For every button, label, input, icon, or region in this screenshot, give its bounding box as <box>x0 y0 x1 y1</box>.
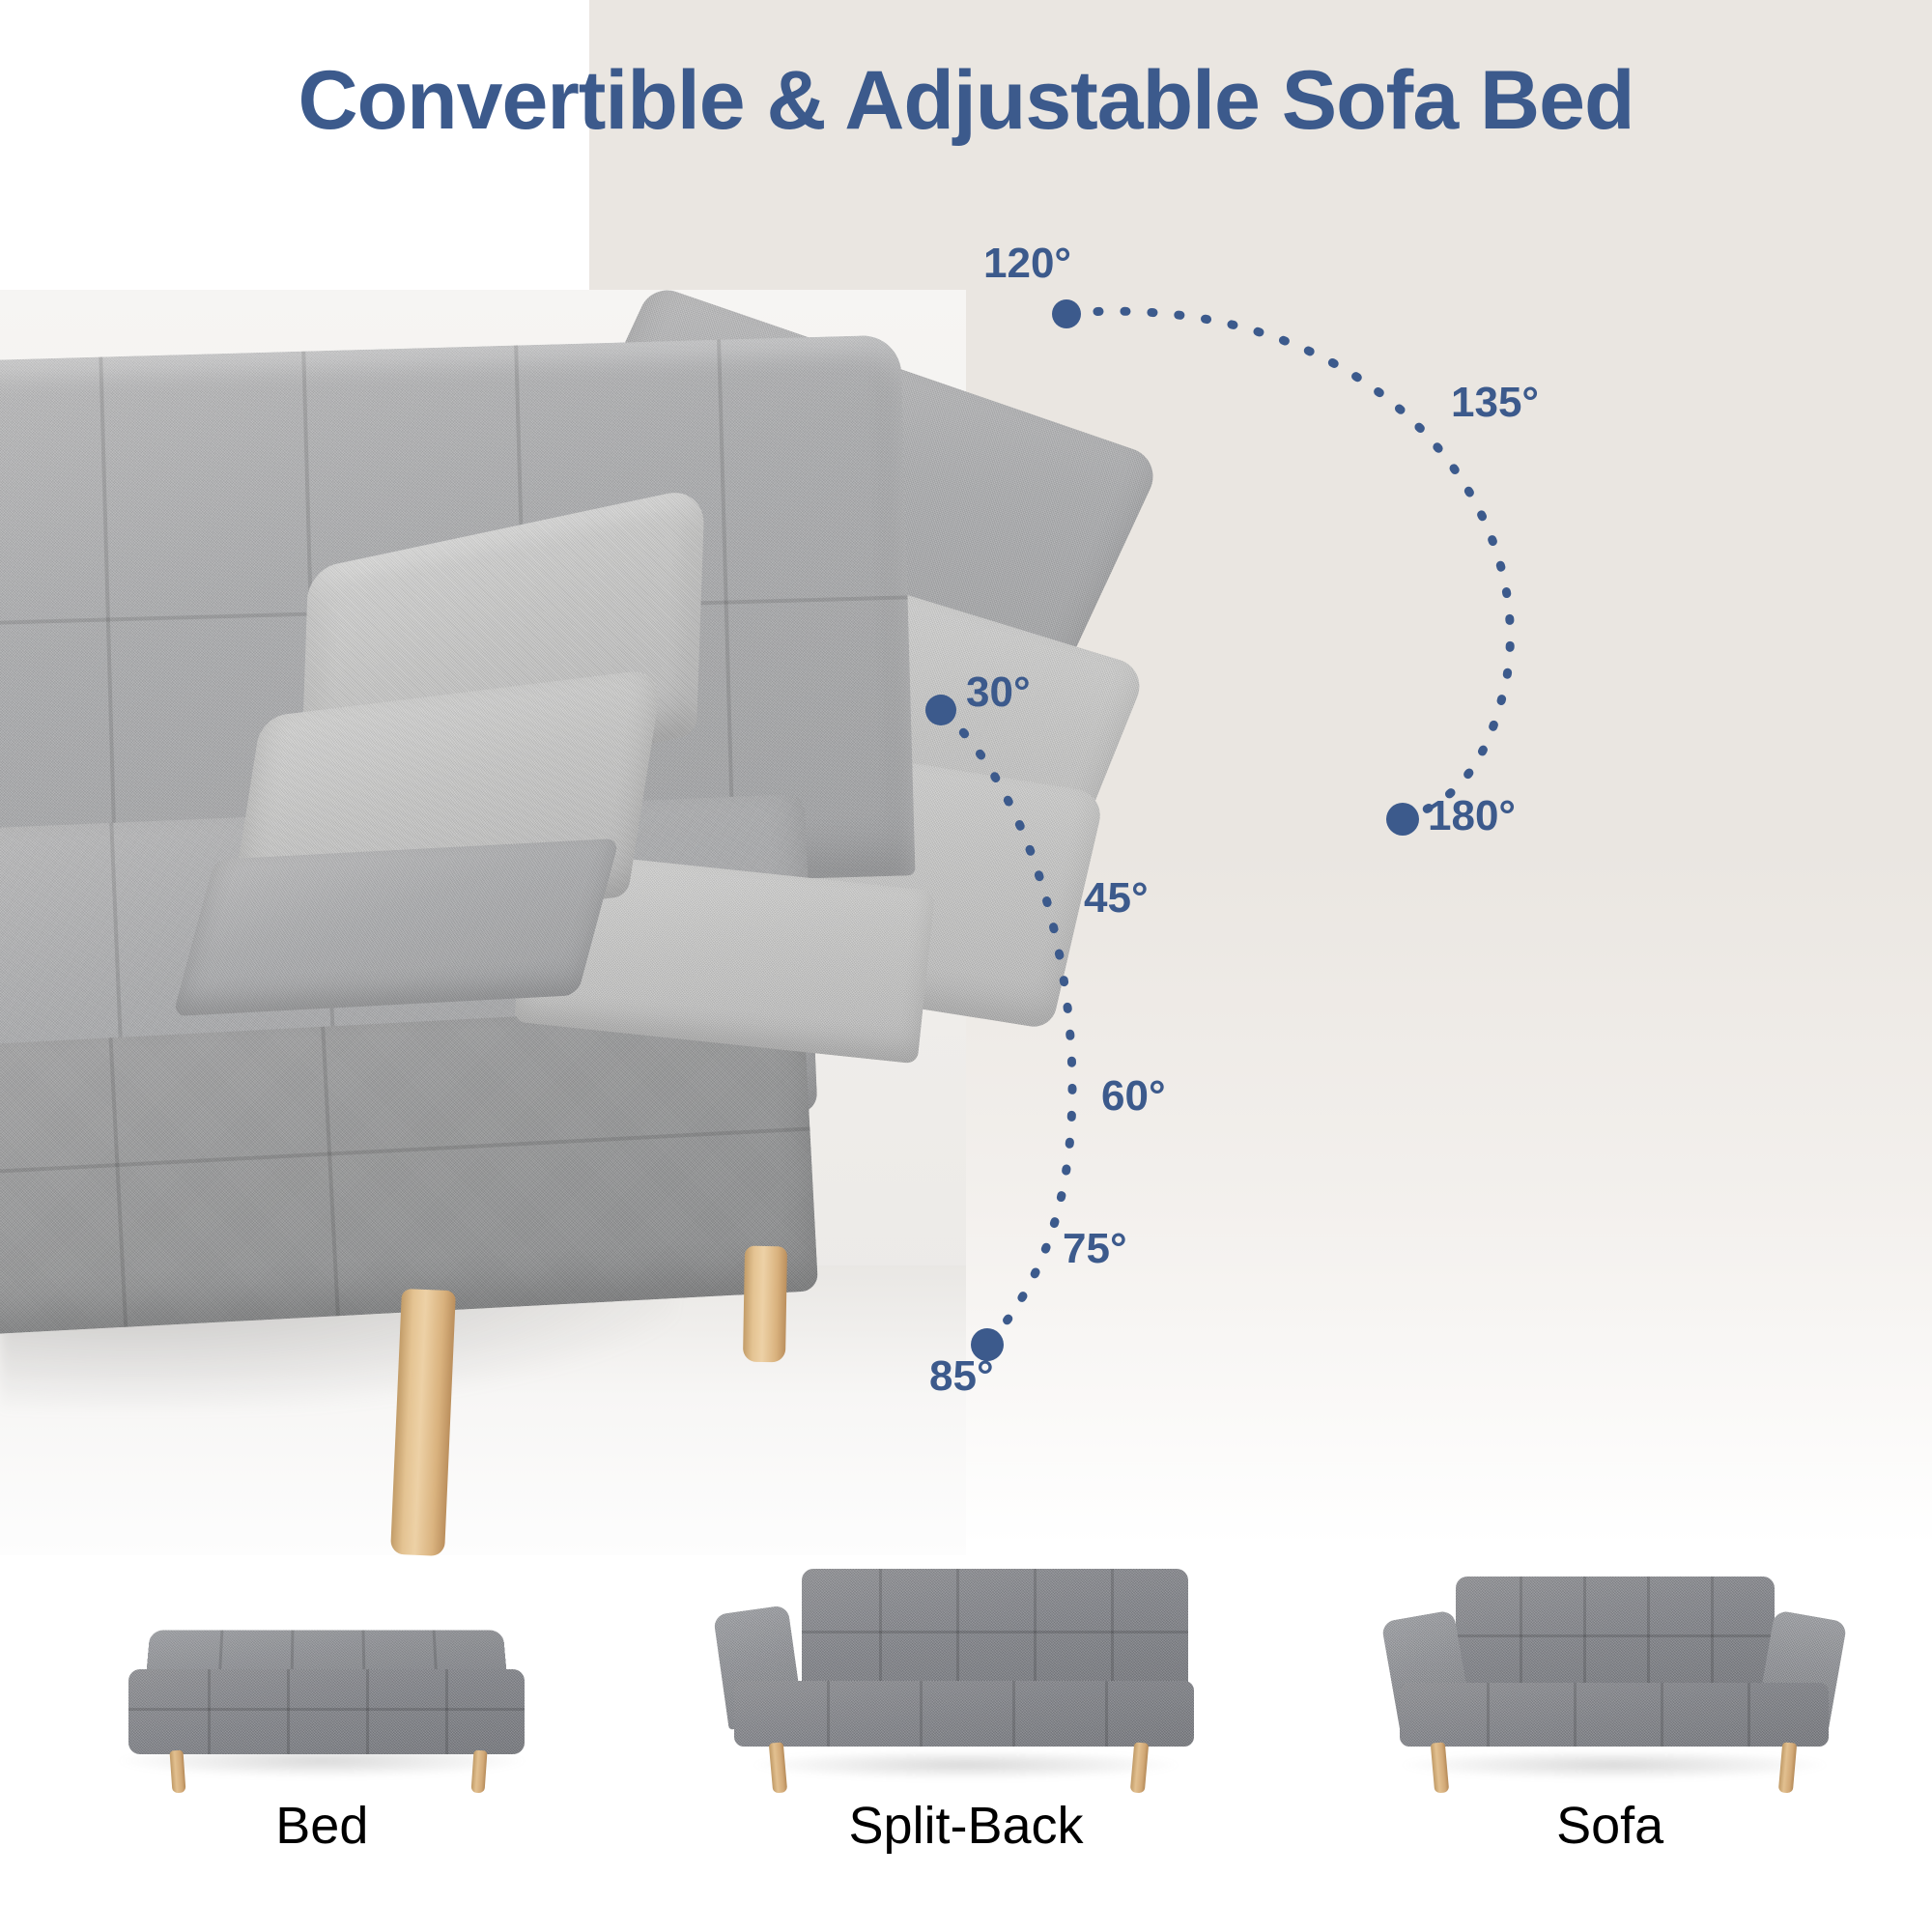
page-title: Convertible & Adjustable Sofa Bed <box>0 53 1932 149</box>
variant-split-back-figure <box>696 1546 1236 1792</box>
variant-bed[interactable]: Bed <box>0 1546 644 1932</box>
variant-label-sofa: Sofa <box>1556 1796 1663 1856</box>
variant-label-split-back: Split-Back <box>848 1796 1083 1856</box>
sofa-leg-front <box>390 1289 456 1556</box>
variant-sofa[interactable]: Sofa <box>1288 1546 1932 1932</box>
infographic-page: Convertible & Adjustable Sofa Bed <box>0 0 1932 1932</box>
sofa-leg-rear <box>743 1246 787 1363</box>
variant-split-back[interactable]: Split-Back <box>644 1546 1289 1932</box>
hero-sofa-photo <box>0 290 1256 1546</box>
sofa-seat-cushion <box>0 1002 818 1337</box>
variant-sofa-figure <box>1340 1546 1881 1792</box>
armrest-position-lower <box>173 838 620 1016</box>
variant-label-bed: Bed <box>275 1796 368 1856</box>
variant-bed-figure <box>51 1546 592 1792</box>
variant-row: Bed <box>0 1546 1932 1932</box>
